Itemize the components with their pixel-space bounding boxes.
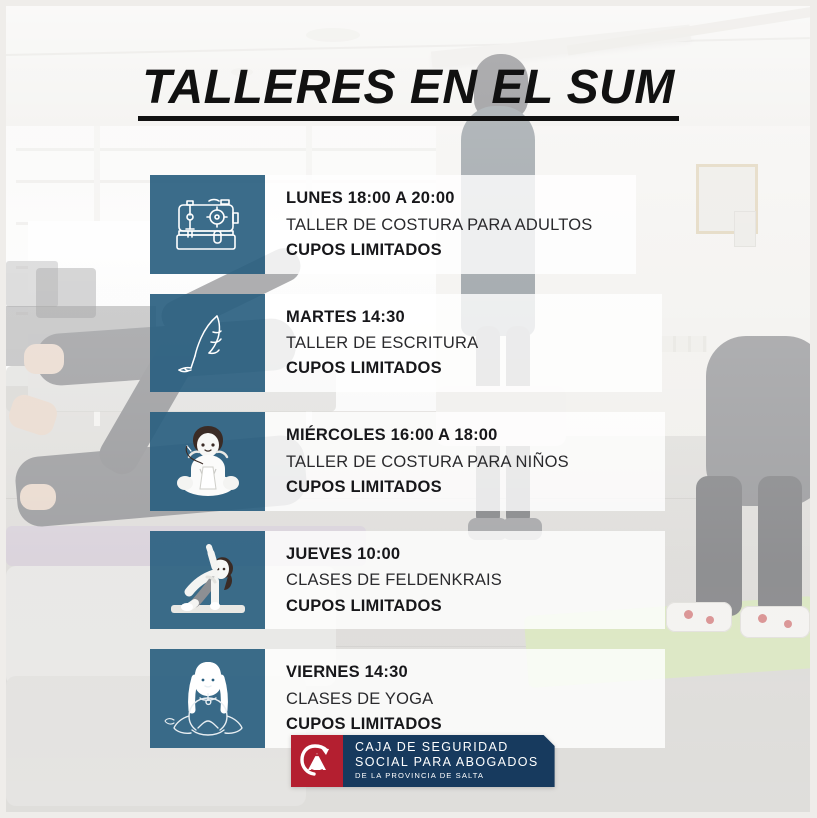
list-item[interactable]: MIÉRCOLES 16:00 A 18:00 TALLER DE COSTUR… xyxy=(150,412,670,511)
workshop-text: JUEVES 10:00 CLASES DE FELDENKRAIS CUPOS… xyxy=(265,531,665,630)
workshop-schedule: VIERNES 14:30 xyxy=(286,660,655,686)
workshop-schedule: MIÉRCOLES 16:00 A 18:00 xyxy=(286,423,655,449)
caja-monogram-icon xyxy=(291,735,343,787)
yoga-triangle-pose-icon xyxy=(150,531,265,630)
workshop-text: MARTES 14:30 TALLER DE ESCRITURA CUPOS L… xyxy=(265,294,662,393)
list-item[interactable]: VIERNES 14:30 CLASES DE YOGA CUPOS LIMIT… xyxy=(150,649,670,748)
poster-content: TALLERES EN EL SUM xyxy=(0,0,817,818)
logo-line-3: DE LA PROVINCIA DE SALTA xyxy=(355,771,539,782)
workshop-name: CLASES DE FELDENKRAIS xyxy=(286,567,655,593)
sewing-machine-icon xyxy=(150,175,265,274)
quill-pen-icon xyxy=(150,294,265,393)
workshop-name: TALLER DE COSTURA PARA ADULTOS xyxy=(286,212,626,238)
list-item[interactable]: LUNES 18:00 A 20:00 TALLER DE COSTURA PA… xyxy=(150,175,670,274)
child-sewing-icon xyxy=(150,412,265,511)
workshop-note: CUPOS LIMITADOS xyxy=(286,356,652,382)
logo-line-2: SOCIAL PARA ABOGADOS xyxy=(355,755,539,770)
organization-logo[interactable]: CAJA DE SEGURIDAD SOCIAL PARA ABOGADOS D… xyxy=(291,735,555,787)
workshop-note: CUPOS LIMITADOS xyxy=(286,594,655,620)
workshop-text: LUNES 18:00 A 20:00 TALLER DE COSTURA PA… xyxy=(265,175,636,274)
workshop-note: CUPOS LIMITADOS xyxy=(286,238,626,264)
workshop-name: TALLER DE COSTURA PARA NIÑOS xyxy=(286,449,655,475)
page-title: TALLERES EN EL SUM xyxy=(0,60,817,115)
workshop-schedule: MARTES 14:30 xyxy=(286,305,652,331)
workshop-list: LUNES 18:00 A 20:00 TALLER DE COSTURA PA… xyxy=(150,175,670,768)
logo-text-band: CAJA DE SEGURIDAD SOCIAL PARA ABOGADOS D… xyxy=(343,735,555,787)
workshop-schedule: JUEVES 10:00 xyxy=(286,542,655,568)
list-item[interactable]: MARTES 14:30 TALLER DE ESCRITURA CUPOS L… xyxy=(150,294,670,393)
workshop-note: CUPOS LIMITADOS xyxy=(286,475,655,501)
meditation-lotus-icon xyxy=(150,649,265,748)
workshop-text: MIÉRCOLES 16:00 A 18:00 TALLER DE COSTUR… xyxy=(265,412,665,511)
list-item[interactable]: JUEVES 10:00 CLASES DE FELDENKRAIS CUPOS… xyxy=(150,531,670,630)
page-title-text: TALLERES EN EL SUM xyxy=(138,61,679,121)
workshop-name: CLASES DE YOGA xyxy=(286,686,655,712)
logo-line-1: CAJA DE SEGURIDAD xyxy=(355,740,539,755)
workshop-name: TALLER DE ESCRITURA xyxy=(286,330,652,356)
workshop-text: VIERNES 14:30 CLASES DE YOGA CUPOS LIMIT… xyxy=(265,649,665,748)
workshop-note: CUPOS LIMITADOS xyxy=(286,712,655,738)
poster-canvas: TALLERES EN EL SUM xyxy=(0,0,817,818)
workshop-schedule: LUNES 18:00 A 20:00 xyxy=(286,186,626,212)
